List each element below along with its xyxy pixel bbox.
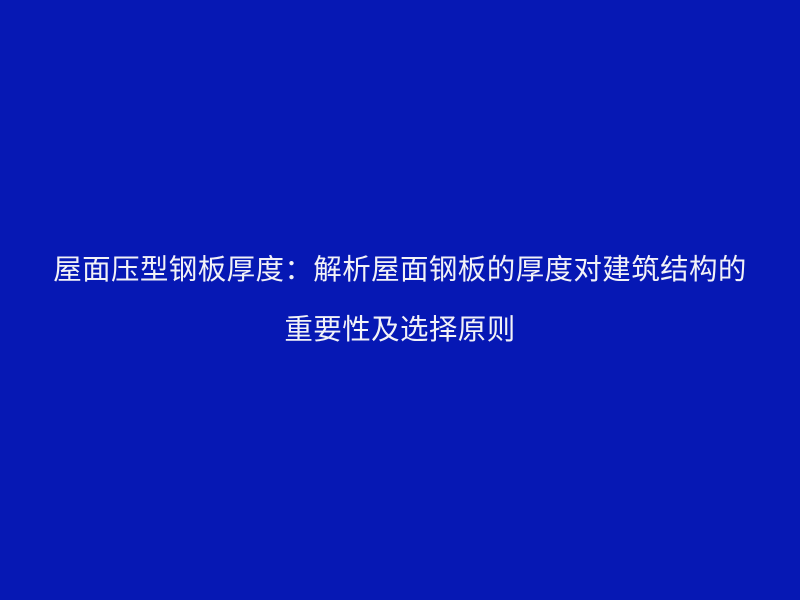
title-block: 屋面压型钢板厚度：解析屋面钢板的厚度对建筑结构的重要性及选择原则 xyxy=(0,240,800,360)
page-title: 屋面压型钢板厚度：解析屋面钢板的厚度对建筑结构的重要性及选择原则 xyxy=(52,240,748,360)
title-slide: 屋面压型钢板厚度：解析屋面钢板的厚度对建筑结构的重要性及选择原则 xyxy=(0,0,800,600)
